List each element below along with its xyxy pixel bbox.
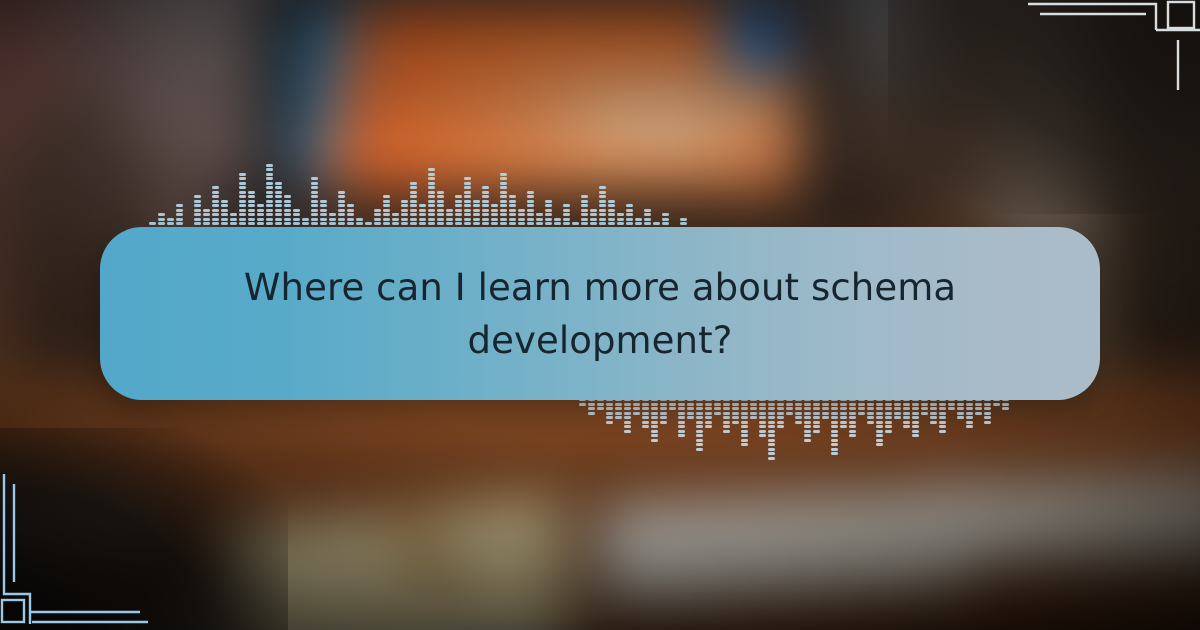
- question-text: Where can I learn more about schema deve…: [230, 261, 970, 367]
- background-dark-corner-bottom-left: [0, 428, 288, 630]
- background-dark-corner-top-right: [888, 0, 1200, 214]
- question-card: Where can I learn more about schema deve…: [100, 227, 1100, 400]
- social-card-canvas: Where can I learn more about schema deve…: [0, 0, 1200, 630]
